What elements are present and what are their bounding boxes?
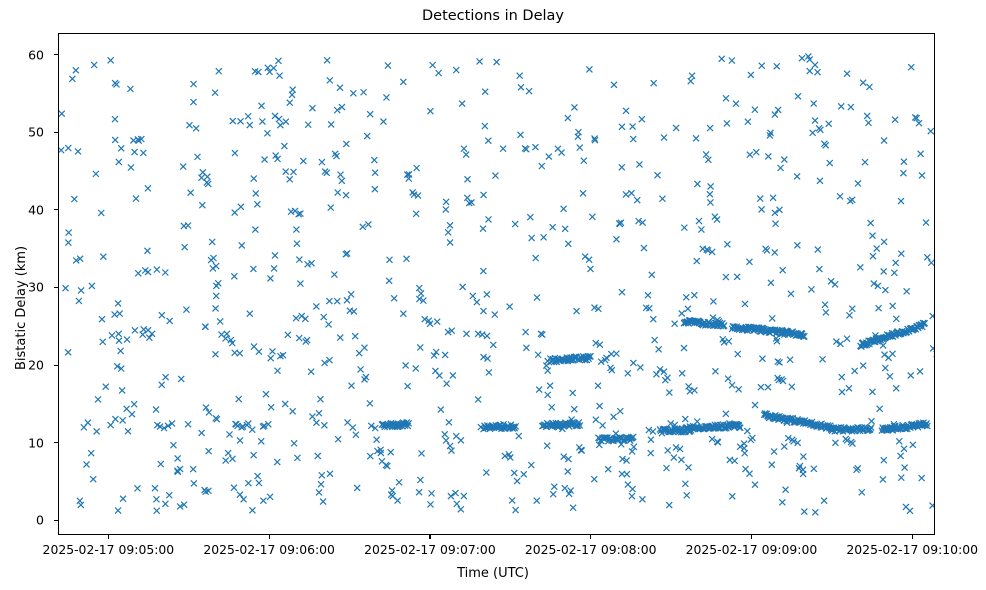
figure-canvas: Detections in Delay Bistatic Delay (km) … bbox=[0, 0, 986, 590]
x-tick-mark bbox=[429, 535, 430, 539]
y-tick-label: 50 bbox=[0, 125, 44, 140]
plot-axes bbox=[58, 33, 935, 535]
x-tick-mark bbox=[912, 535, 913, 539]
x-tick-label: 2025-02-17 09:10:00 bbox=[846, 542, 978, 557]
x-tick-mark bbox=[269, 535, 270, 539]
y-axis-label: Bistatic Delay (km) bbox=[14, 246, 29, 370]
x-tick-label: 2025-02-17 09:09:00 bbox=[686, 542, 818, 557]
y-tick-label: 10 bbox=[0, 435, 44, 450]
page-title: Detections in Delay bbox=[0, 8, 986, 24]
y-tick-label: 20 bbox=[0, 358, 44, 373]
x-tick-label: 2025-02-17 09:07:00 bbox=[364, 542, 496, 557]
x-tick-mark bbox=[108, 535, 109, 539]
y-tick-label: 60 bbox=[0, 47, 44, 62]
x-tick-label: 2025-02-17 09:05:00 bbox=[43, 542, 175, 557]
scatter-series bbox=[59, 34, 934, 534]
x-tick-mark bbox=[751, 535, 752, 539]
y-tick-label: 40 bbox=[0, 202, 44, 217]
x-tick-mark bbox=[590, 535, 591, 539]
y-tick-label: 30 bbox=[0, 280, 44, 295]
y-tick-label: 0 bbox=[0, 513, 44, 528]
x-tick-label: 2025-02-17 09:06:00 bbox=[203, 542, 335, 557]
x-tick-label: 2025-02-17 09:08:00 bbox=[525, 542, 657, 557]
x-axis-label: Time (UTC) bbox=[0, 566, 986, 581]
